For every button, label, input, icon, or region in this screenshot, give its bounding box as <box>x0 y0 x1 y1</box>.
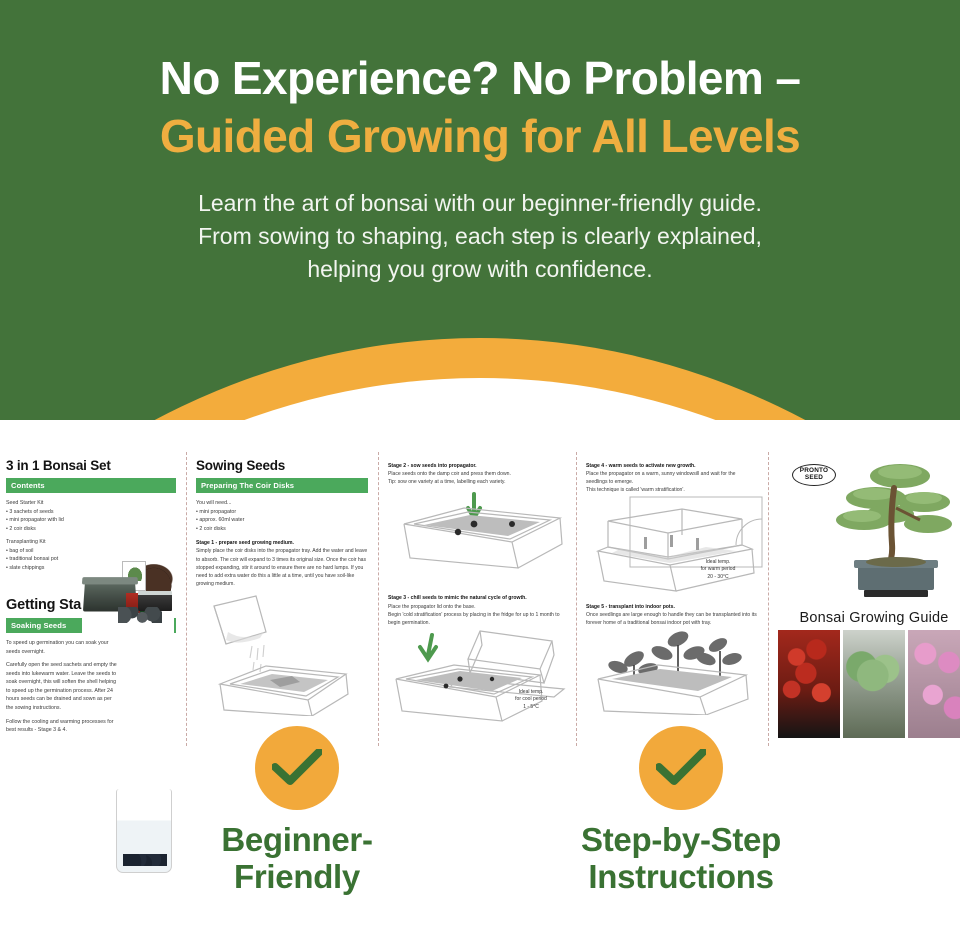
instruction-panels: 3 in 1 Bonsai Set Contents Seed Starter … <box>0 448 960 748</box>
panel3-stage2-title: Stage 2 - sow seeds into propagator. <box>388 463 477 469</box>
bonsai-kit-photo <box>82 557 174 635</box>
hero-title-line2: Guided Growing for All Levels <box>0 112 960 160</box>
panel2-stage1-title: Stage 1 - prepare seed growing medium. <box>196 540 294 546</box>
hero-banner: No Experience? No Problem – Guided Growi… <box>0 0 960 420</box>
panel1-group2-title: Transplanting Kit <box>6 539 46 545</box>
panel-sowing-seeds: Sowing Seeds Preparing The Coir Disks Yo… <box>186 448 378 748</box>
panel3-temp-note: Ideal temp. for cool period 1 - 5°C <box>492 689 570 712</box>
cover-thumbnail-row <box>778 630 960 738</box>
panel4-stage5: Stage 5 - transplant into indoor pots. O… <box>586 603 758 627</box>
panel2-needs-items: • mini propagator • approx. 60ml water •… <box>196 508 368 534</box>
check-icon <box>255 726 339 810</box>
feature-label-steps-line2: Instructions <box>531 859 831 896</box>
propagator-pour-drawing <box>196 588 376 716</box>
panel1-contents-bar: Contents <box>6 478 176 493</box>
stage5-illustration <box>586 627 758 717</box>
panel4-temp-note: Ideal temp. for warm period 20 - 30°C <box>678 559 758 582</box>
panel2-needs: You will need... • mini propagator • app… <box>196 499 368 533</box>
panel2-coir-bar: Preparing The Coir Disks <box>196 478 368 493</box>
feature-label-beginner: Beginner- Friendly <box>147 822 447 896</box>
hero-subtitle-line3: helping you grow with confidence. <box>0 253 960 286</box>
hero-title-line1: No Experience? No Problem – <box>0 54 960 102</box>
panel4-stage4-body: Place the propagator on a warm, sunny wi… <box>586 470 758 494</box>
seedlings-pot-drawing <box>586 627 766 715</box>
panel2-heading: Sowing Seeds <box>196 458 368 473</box>
panel-stage4-stage5: Stage 4 - warm seeds to activate new gro… <box>576 448 768 748</box>
hero-text-block: No Experience? No Problem – Guided Growi… <box>0 0 960 287</box>
thumb-green-pine-icon <box>843 630 905 738</box>
hero-subtitle-line2: From sowing to shaping, each step is cle… <box>0 220 960 253</box>
guide-cover-title: Bonsai Growing Guide <box>778 610 960 626</box>
panel3-stage3: Stage 3 - chill seeds to mimic the natur… <box>388 594 566 627</box>
feature-label-beginner-line2: Friendly <box>147 859 447 896</box>
panel3-stage3-title: Stage 3 - chill seeds to mimic the natur… <box>388 595 527 601</box>
feature-step-by-step: Step-by-Step Instructions <box>531 726 831 929</box>
panel2-stage1: Stage 1 - prepare seed growing medium. S… <box>196 539 368 588</box>
feature-label-steps: Step-by-Step Instructions <box>531 822 831 896</box>
stage2-illustration <box>388 486 566 594</box>
panel1-group1-items: • 3 sachets of seeds • mini propagator w… <box>6 508 98 534</box>
feature-beginner-friendly: Beginner- Friendly <box>147 726 447 929</box>
stage3-illustration: Ideal temp. for cool period 1 - 5°C <box>388 627 566 737</box>
panel2-needs-title: You will need... <box>196 499 368 508</box>
logo-line2: SEED <box>805 475 823 482</box>
thumb-red-maple-icon <box>778 630 840 738</box>
panel-bonsai-set: 3 in 1 Bonsai Set Contents Seed Starter … <box>0 448 186 748</box>
feature-highlights: Beginner- Friendly Step-by-Step Instruct… <box>0 726 960 929</box>
panel-stage2-stage3: Stage 2 - sow seeds into propagator. Pla… <box>378 448 576 748</box>
hero-subtitle-line1: Learn the art of bonsai with our beginne… <box>0 187 960 220</box>
panel3-stage3-body: Place the propagator lid onto the base. … <box>388 603 566 627</box>
propagator-sow-drawing <box>388 486 574 590</box>
feature-label-beginner-line1: Beginner- <box>147 822 447 859</box>
panel3-stage2: Stage 2 - sow seeds into propagator. Pla… <box>388 462 566 486</box>
panel4-stage4-title: Stage 4 - warm seeds to activate new gro… <box>586 463 696 469</box>
stage4-illustration: Ideal temp. for warm period 20 - 30°C <box>586 495 758 603</box>
check-icon <box>639 726 723 810</box>
feature-label-steps-line1: Step-by-Step <box>531 822 831 859</box>
panel4-stage5-body: Once seedlings are large enough to handl… <box>586 611 758 627</box>
thumb-pink-blossom-icon <box>908 630 960 738</box>
hero-subtitle: Learn the art of bonsai with our beginne… <box>0 187 960 287</box>
propagator-windowsill-drawing <box>586 495 766 599</box>
pouring-water-illustration <box>196 588 368 718</box>
panel1-heading: 3 in 1 Bonsai Set <box>6 458 176 473</box>
white-curve-divider <box>0 378 960 420</box>
panel1-para1: To speed up germination you can soak you… <box>6 639 118 656</box>
bonsai-cover-photo <box>824 458 960 604</box>
panel1-para2: Carefully open the seed sachets and empt… <box>6 661 118 712</box>
panel1-group1-title: Seed Starter Kit <box>6 500 43 506</box>
panel4-stage4: Stage 4 - warm seeds to activate new gro… <box>586 462 758 495</box>
panel2-stage1-body: Simply place the coir disks into the pro… <box>196 547 368 588</box>
panel4-stage5-title: Stage 5 - transplant into indoor pots. <box>586 604 675 610</box>
infographic-root: No Experience? No Problem – Guided Growi… <box>0 0 960 929</box>
panel3-stage2-body: Place seeds onto the damp coir and press… <box>388 470 566 486</box>
panel-growing-guide-cover: PRONTO SEED <box>768 448 960 748</box>
